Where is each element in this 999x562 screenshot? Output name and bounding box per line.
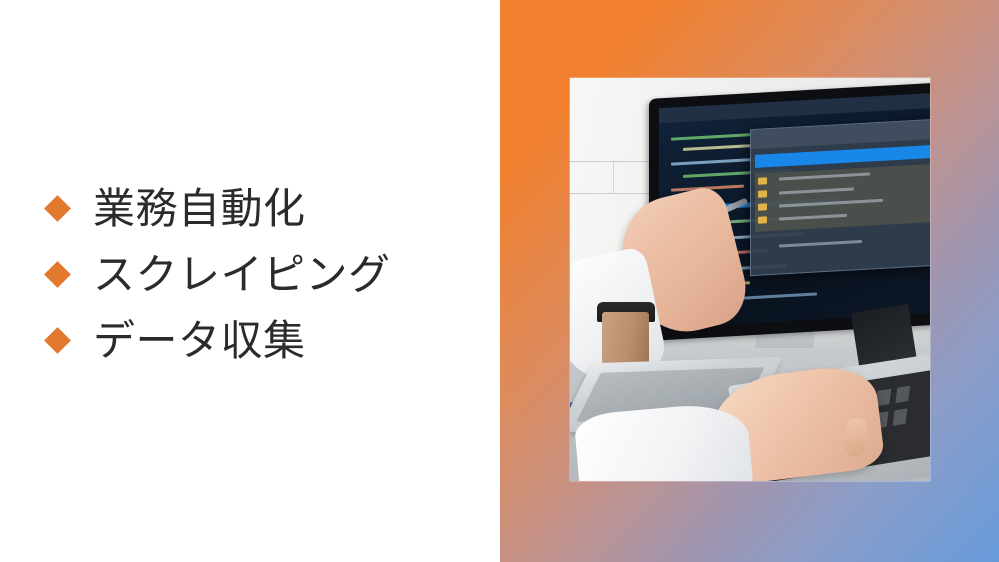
wall-tile-seam <box>613 161 614 193</box>
diamond-bullet-icon <box>44 261 71 288</box>
folder-icon <box>758 203 767 211</box>
keyboard-key <box>876 389 891 407</box>
slide: 業務自動化 スクレイピング データ収集 <box>0 0 999 562</box>
folder-icon <box>758 217 767 225</box>
desk-workstation-photo <box>570 78 930 481</box>
list-item: スクレイピング <box>48 242 488 307</box>
diamond-bullet-icon <box>44 327 71 354</box>
keyboard-key <box>895 386 910 404</box>
folder-icon <box>758 177 767 185</box>
bullet-text: 業務自動化 <box>93 188 488 230</box>
list-item: データ収集 <box>48 308 488 373</box>
diamond-bullet-icon <box>44 195 71 222</box>
list-item: 業務自動化 <box>48 176 488 241</box>
file-dialog-row <box>779 240 862 248</box>
file-dialog <box>750 119 930 277</box>
content-area: 業務自動化 スクレイピング データ収集 <box>0 0 500 562</box>
keyboard-key <box>892 408 907 426</box>
index-finger <box>844 419 867 458</box>
bullet-text: スクレイピング <box>93 254 488 296</box>
bullet-text: データ収集 <box>93 320 488 362</box>
gradient-panel <box>500 0 999 562</box>
file-dialog-titlebar <box>751 120 930 149</box>
bullet-list: 業務自動化 スクレイピング データ収集 <box>48 176 488 374</box>
folder-icon <box>758 190 767 198</box>
editor-toolbar <box>659 91 930 123</box>
